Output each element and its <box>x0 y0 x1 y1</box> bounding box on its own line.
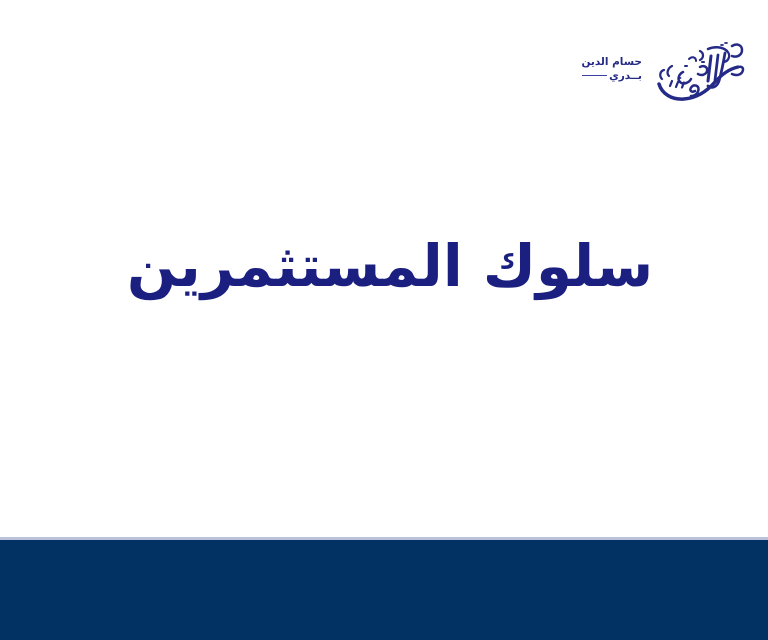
footer-band <box>0 537 768 640</box>
title-area: سلوك المستثمرين <box>0 0 768 537</box>
slide-title: سلوك المستثمرين <box>127 235 653 299</box>
slide-canvas: حسام الدين بــدري سلوك المستثمرين <box>0 0 768 640</box>
footer-accent-line <box>0 537 768 540</box>
